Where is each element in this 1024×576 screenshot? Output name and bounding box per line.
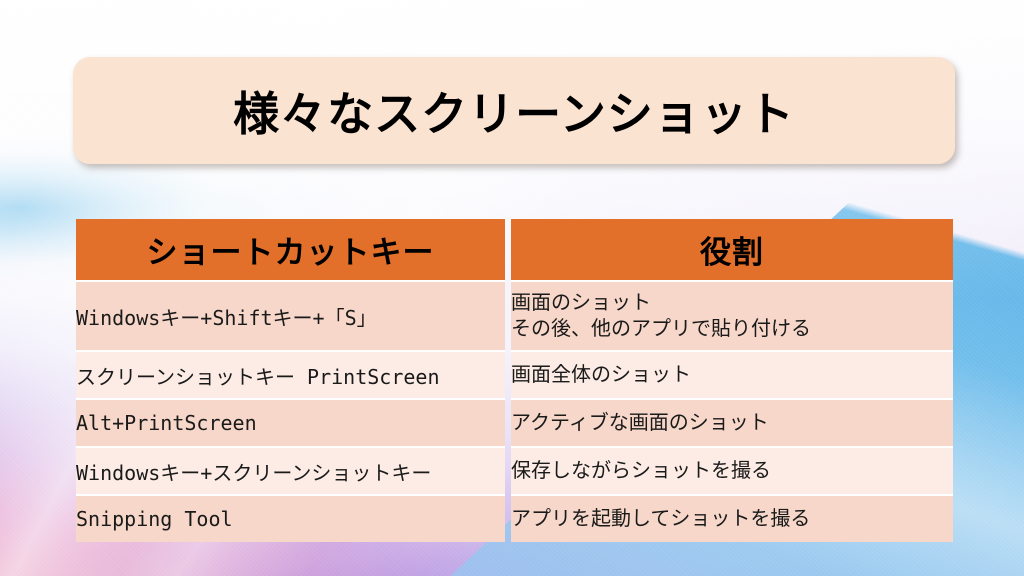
- title-plaque: 様々なスクリーンショット: [73, 57, 955, 164]
- cell-role: 画面のショット その後、他のアプリで貼り付ける: [511, 280, 953, 350]
- cell-shortcut: Windowsキー+スクリーンショットキー: [76, 446, 505, 494]
- table-row: スクリーンショットキー PrintScreen 画面全体のショット: [76, 350, 953, 398]
- table-row: Snipping Tool アプリを起動してショットを撮る: [76, 494, 953, 542]
- cell-shortcut: Alt+PrintScreen: [76, 398, 505, 446]
- table-header-row: ショートカットキー 役割: [76, 219, 953, 280]
- column-header-role: 役割: [511, 219, 953, 280]
- cell-role: アクティブな画面のショット: [511, 398, 953, 446]
- cell-role: 画面全体のショット: [511, 350, 953, 398]
- table-head: ショートカットキー 役割: [76, 219, 953, 280]
- column-header-shortcut: ショートカットキー: [76, 219, 505, 280]
- table-row: Alt+PrintScreen アクティブな画面のショット: [76, 398, 953, 446]
- cell-shortcut: Windowsキー+Shiftキー+「S」: [76, 280, 505, 350]
- shortcut-table: ショートカットキー 役割 Windowsキー+Shiftキー+「S」 画面のショ…: [76, 219, 953, 542]
- table-body: Windowsキー+Shiftキー+「S」 画面のショット その後、他のアプリで…: [76, 280, 953, 542]
- cell-shortcut: スクリーンショットキー PrintScreen: [76, 350, 505, 398]
- table-row: Windowsキー+Shiftキー+「S」 画面のショット その後、他のアプリで…: [76, 280, 953, 350]
- page-title: 様々なスクリーンショット: [233, 78, 795, 144]
- table-row: Windowsキー+スクリーンショットキー 保存しながらショットを撮る: [76, 446, 953, 494]
- cell-role: 保存しながらショットを撮る: [511, 446, 953, 494]
- cell-shortcut: Snipping Tool: [76, 494, 505, 542]
- slide-canvas: 様々なスクリーンショット ショートカットキー 役割 Windowsキー+Shif…: [0, 0, 1024, 576]
- cell-role: アプリを起動してショットを撮る: [511, 494, 953, 542]
